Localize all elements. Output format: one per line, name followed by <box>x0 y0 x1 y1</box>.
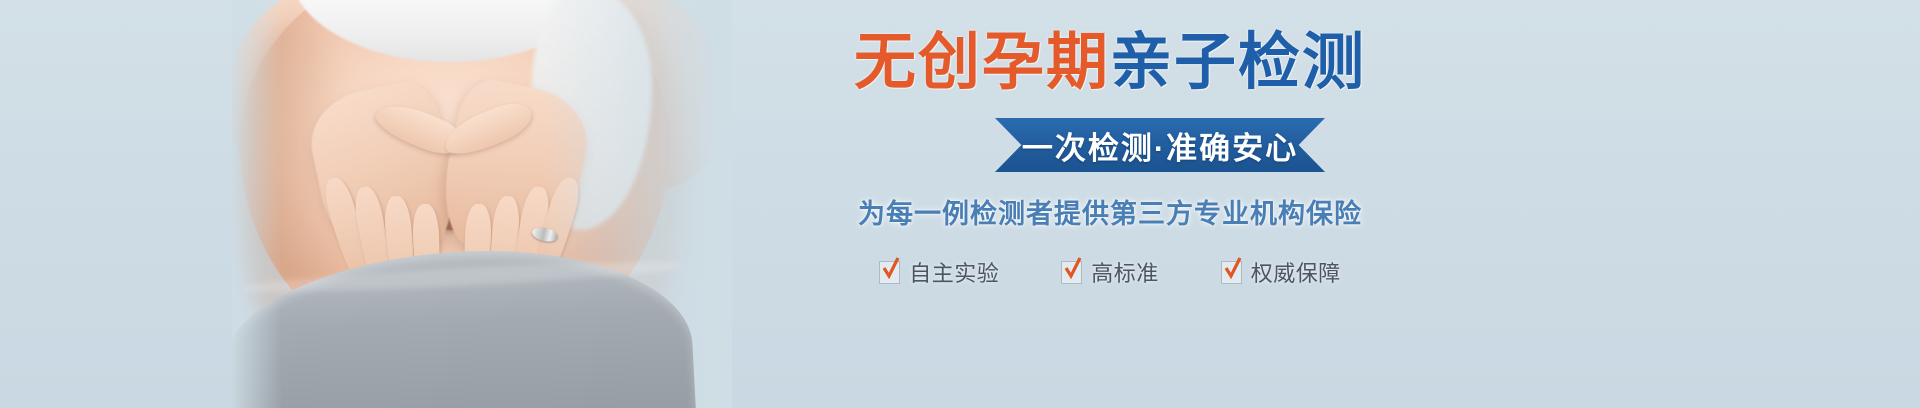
feature-item: 自主实验 <box>879 256 999 288</box>
checkmark-icon <box>881 257 900 281</box>
feature-list: 自主实验 高标准 权威保障 <box>760 256 1460 288</box>
checkbox[interactable] <box>1221 261 1242 284</box>
pregnancy-photo <box>232 0 732 408</box>
banner-headline: 无创孕期亲子检测 <box>760 32 1460 94</box>
checkbox[interactable] <box>879 261 900 284</box>
checkbox[interactable] <box>1061 261 1082 284</box>
tagline-ribbon: 一次检测·准确安心 <box>995 118 1325 172</box>
feature-label: 权威保障 <box>1251 256 1341 288</box>
checkmark-icon <box>1223 257 1242 281</box>
feature-item: 高标准 <box>1061 256 1159 288</box>
headline-segment-blue: 亲子检测 <box>1110 28 1366 97</box>
feature-item: 权威保障 <box>1221 256 1341 288</box>
feature-label: 高标准 <box>1091 256 1159 288</box>
tagline-text: 一次检测·准确安心 <box>1022 123 1298 168</box>
feature-label: 自主实验 <box>909 256 999 288</box>
headline-segment-orange: 无创孕期 <box>854 28 1110 97</box>
banner-copy: 无创孕期亲子检测 一次检测·准确安心 为每一例检测者提供第三方专业机构保险 自主… <box>760 0 1460 408</box>
banner-subtitle: 为每一例检测者提供第三方专业机构保险 <box>760 192 1460 231</box>
checkmark-icon <box>1063 257 1082 281</box>
promo-banner: 无创孕期亲子检测 一次检测·准确安心 为每一例检测者提供第三方专业机构保险 自主… <box>0 0 1920 408</box>
